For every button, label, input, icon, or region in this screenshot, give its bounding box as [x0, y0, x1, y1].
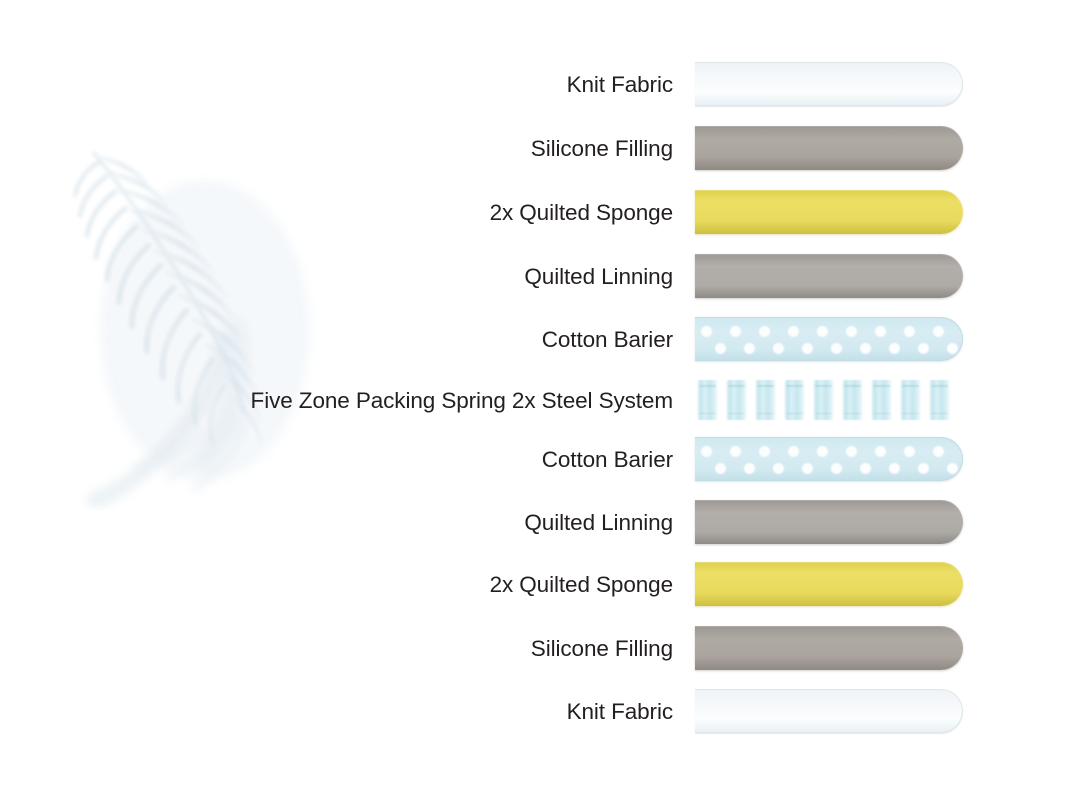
layer-row: 2x Quilted Sponge	[0, 190, 1066, 234]
polka-dot	[773, 463, 784, 474]
layer-label: Silicone Filling	[0, 635, 673, 662]
polka-dot	[773, 343, 784, 354]
layer-label: Silicone Filling	[0, 135, 673, 162]
polka-dot	[860, 463, 871, 474]
polka-dot	[715, 463, 726, 474]
polka-dot	[875, 326, 886, 337]
layer-row: Knit Fabric	[0, 62, 1066, 106]
layer-row: Silicone Filling	[0, 126, 1066, 170]
layer-bar-wrap	[695, 190, 963, 234]
steel-coil	[929, 380, 950, 420]
polka-dot	[875, 446, 886, 457]
layer-row: Cotton Barier	[0, 317, 1066, 361]
polka-dot	[730, 446, 741, 457]
polka-dot	[730, 326, 741, 337]
polka-dot	[831, 343, 842, 354]
polka-dot	[788, 326, 799, 337]
mattress-layer-stack: Knit FabricSilicone Filling2x Quilted Sp…	[0, 0, 1066, 799]
steel-coil	[726, 380, 747, 420]
layer-row: Quilted Linning	[0, 500, 1066, 544]
layer-bar-linning	[695, 500, 963, 544]
polka-dot	[744, 343, 755, 354]
polka-dot-pattern	[695, 318, 962, 360]
steel-coil	[784, 380, 805, 420]
steel-coil	[813, 380, 834, 420]
polka-dot	[904, 326, 915, 337]
layer-bar-wrap	[695, 378, 963, 422]
layer-bar-barier	[695, 317, 963, 361]
polka-dot	[947, 343, 958, 354]
polka-dot	[889, 463, 900, 474]
polka-dot	[933, 326, 944, 337]
layer-label: Knit Fabric	[0, 71, 673, 98]
layer-bar-silicone	[695, 126, 963, 170]
layer-bar-sponge	[695, 190, 963, 234]
polka-dot	[831, 463, 842, 474]
polka-dot	[817, 326, 828, 337]
layer-label: Cotton Barier	[0, 446, 673, 473]
polka-dot	[701, 326, 712, 337]
polka-dot	[759, 446, 770, 457]
layer-bar-wrap	[695, 317, 963, 361]
polka-dot	[788, 446, 799, 457]
polka-dot	[744, 463, 755, 474]
layer-bar-knit	[695, 689, 963, 733]
steel-coil	[697, 380, 718, 420]
layer-label: Cotton Barier	[0, 326, 673, 353]
layer-row: Five Zone Packing Spring 2x Steel System	[0, 378, 1066, 422]
polka-dot	[918, 463, 929, 474]
steel-coil	[755, 380, 776, 420]
layer-bar-linning	[695, 254, 963, 298]
polka-dot	[947, 463, 958, 474]
polka-dot	[802, 343, 813, 354]
layer-bar-wrap	[695, 562, 963, 606]
polka-dot	[715, 343, 726, 354]
layer-bar-sponge	[695, 562, 963, 606]
layer-row: Silicone Filling	[0, 626, 1066, 670]
polka-dot	[846, 446, 857, 457]
polka-dot	[918, 343, 929, 354]
layer-row: 2x Quilted Sponge	[0, 562, 1066, 606]
layer-bar-wrap	[695, 62, 963, 106]
polka-dot	[889, 343, 900, 354]
layer-label: Five Zone Packing Spring 2x Steel System	[0, 387, 673, 414]
layer-bar-wrap	[695, 254, 963, 298]
layer-bar-wrap	[695, 126, 963, 170]
polka-dot	[701, 446, 712, 457]
steel-coil	[900, 380, 921, 420]
layer-bar-wrap	[695, 500, 963, 544]
layer-label: Quilted Linning	[0, 509, 673, 536]
layer-label: Knit Fabric	[0, 698, 673, 725]
layer-row: Knit Fabric	[0, 689, 1066, 733]
polka-dot	[802, 463, 813, 474]
layer-bar-silicone	[695, 626, 963, 670]
layer-bar-barier	[695, 437, 963, 481]
layer-bar-wrap	[695, 689, 963, 733]
polka-dot	[759, 326, 770, 337]
polka-dot	[904, 446, 915, 457]
polka-dot	[817, 446, 828, 457]
layer-row: Quilted Linning	[0, 254, 1066, 298]
steel-coil	[871, 380, 892, 420]
layer-label: 2x Quilted Sponge	[0, 199, 673, 226]
layer-label: 2x Quilted Sponge	[0, 571, 673, 598]
polka-dot-pattern	[695, 438, 962, 480]
polka-dot	[933, 446, 944, 457]
layer-bar-spring	[695, 378, 963, 422]
steel-coil	[842, 380, 863, 420]
polka-dot	[846, 326, 857, 337]
layer-row: Cotton Barier	[0, 437, 1066, 481]
layer-bar-wrap	[695, 437, 963, 481]
layer-bar-knit	[695, 62, 963, 106]
layer-bar-wrap	[695, 626, 963, 670]
polka-dot	[860, 343, 871, 354]
layer-label: Quilted Linning	[0, 263, 673, 290]
